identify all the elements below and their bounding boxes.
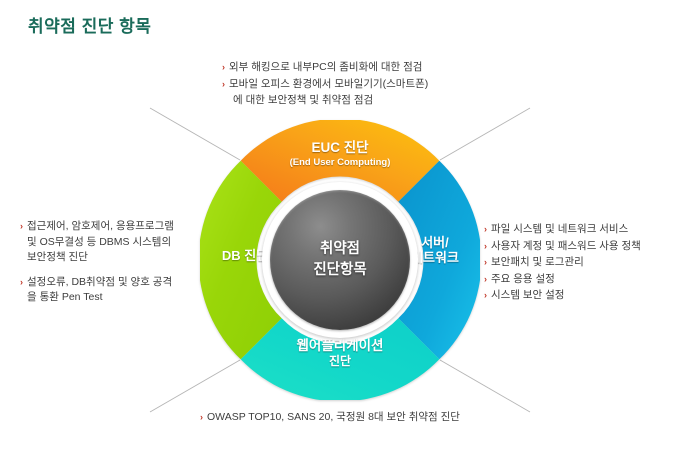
list-item: › 시스템 보안 설정 [484, 288, 664, 304]
bullet-list-db: › 접근제어, 암호제어, 응용프로그램 및 OS무결성 등 DBMS 시스템의… [20, 219, 180, 307]
bullet-list-server-network: › 파일 시스템 및 네트워크 서비스 › 사용자 계정 및 패스워드 사용 정… [484, 222, 664, 305]
list-item-text-cont: 및 OS무결성 등 DBMS 시스템의 보안정책 진단 [27, 236, 171, 264]
bullet-marker-icon: › [222, 77, 225, 92]
bullet-marker-icon: › [484, 272, 487, 287]
center-sphere: 취약점 진단항목 [270, 190, 410, 330]
bullet-marker-icon: › [484, 222, 487, 237]
bullet-marker-icon: › [484, 255, 487, 270]
list-item-text: 모바일 오피스 환경에서 모바일기기(스마트폰) [229, 77, 472, 93]
list-item-text: 파일 시스템 및 네트워크 서비스 [491, 222, 664, 238]
list-item: › 접근제어, 암호제어, 응용프로그램 및 OS무결성 등 DBMS 시스템의… [20, 219, 180, 266]
page-title: 취약점 진단 항목 [28, 12, 151, 37]
center-label: 취약점 진단항목 [313, 239, 366, 281]
bullet-list-euc: › 외부 해킹으로 내부PC의 좀비화에 대한 점검 › 모바일 오피스 환경에… [222, 60, 472, 109]
bullet-marker-icon: › [222, 60, 225, 75]
list-item-text: 설정오류, DB취약점 및 양호 공격을 통환 Pen Test [27, 275, 180, 306]
center-label-line2: 진단항목 [313, 262, 366, 278]
list-item: › 모바일 오피스 환경에서 모바일기기(스마트폰) [222, 77, 472, 93]
list-item-text: 주요 응용 설정 [491, 272, 664, 288]
list-item: › OWASP TOP10, SANS 20, 국정원 8대 보안 취약점 진단 [200, 410, 500, 426]
list-item: › 외부 해킹으로 내부PC의 좀비화에 대한 점검 [222, 60, 472, 76]
bullet-marker-icon: › [484, 288, 487, 303]
list-item-text-main: 접근제어, 암호제어, 응용프로그램 [27, 220, 174, 232]
list-item: › 보안패치 및 로그관리 [484, 255, 664, 271]
list-item-text: 접근제어, 암호제어, 응용프로그램 및 OS무결성 등 DBMS 시스템의 보… [27, 219, 180, 266]
spacer [20, 267, 180, 275]
list-item: › 파일 시스템 및 네트워크 서비스 [484, 222, 664, 238]
list-item-text: 시스템 보안 설정 [491, 288, 664, 304]
vulnerability-donut-diagram: EUC 진단 (End User Computing) 서버/ 네트워크 웹어플… [200, 120, 480, 400]
list-item: › 사용자 계정 및 패스워드 사용 정책 [484, 239, 664, 255]
slide-canvas: 취약점 진단 항목 [0, 0, 680, 450]
bullet-marker-icon: › [20, 275, 23, 290]
list-item-continuation: 에 대한 보안정책 및 취약점 점검 [222, 93, 472, 109]
list-item-text: 사용자 계정 및 패스워드 사용 정책 [491, 239, 664, 255]
bullet-marker-icon: › [484, 239, 487, 254]
list-item-text-main: 설정오류, DB취약점 및 양호 [27, 276, 150, 288]
list-item: › 주요 응용 설정 [484, 272, 664, 288]
bullet-marker-icon: › [20, 219, 23, 234]
list-item: › 설정오류, DB취약점 및 양호 공격을 통환 Pen Test [20, 275, 180, 306]
center-hub-ring: 취약점 진단항목 [262, 182, 418, 338]
center-label-line1: 취약점 [320, 241, 360, 257]
list-item-text: 보안패치 및 로그관리 [491, 255, 664, 271]
bullet-list-web-application: › OWASP TOP10, SANS 20, 국정원 8대 보안 취약점 진단 [200, 410, 500, 427]
list-item-text: 외부 해킹으로 내부PC의 좀비화에 대한 점검 [229, 60, 472, 76]
bullet-marker-icon: › [200, 410, 203, 425]
list-item-text: OWASP TOP10, SANS 20, 국정원 8대 보안 취약점 진단 [207, 410, 500, 426]
